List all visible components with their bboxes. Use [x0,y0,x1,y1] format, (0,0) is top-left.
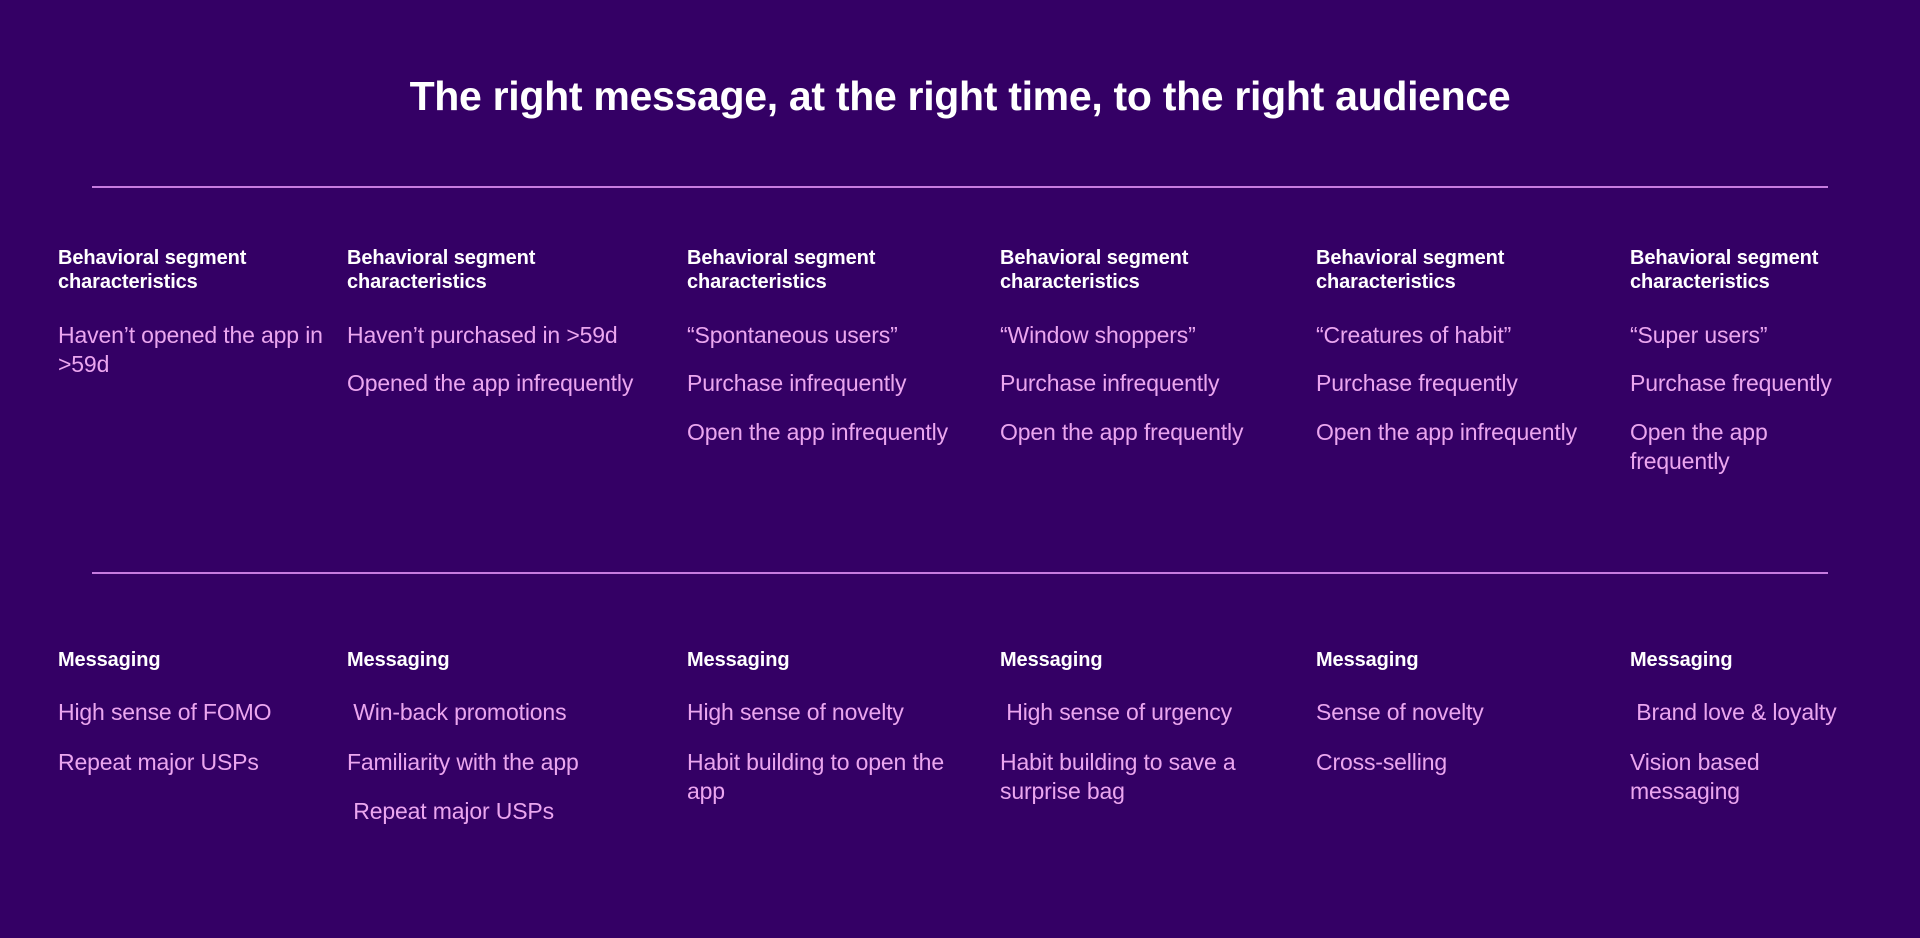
list-item: “Super users” [1630,321,1844,350]
messaging-column-4: Messaging High sense of urgency Habit bu… [1000,648,1316,847]
messaging-heading-6: Messaging [1630,648,1844,672]
messaging-heading-5: Messaging [1316,648,1606,672]
messaging-column-1: Messaging High sense of FOMO Repeat majo… [58,648,347,847]
list-item: “Window shoppers” [1000,321,1292,350]
list-item: Win-back promotions [347,698,663,727]
list-item: Purchase infrequently [1000,369,1292,398]
messaging-list-4: High sense of urgency Habit building to … [1000,698,1292,806]
messaging-heading-1: Messaging [58,648,323,672]
messaging-heading-4: Messaging [1000,648,1292,672]
list-item: Vision based messaging [1630,748,1844,807]
characteristics-list-2: Haven’t purchased in >59d Opened the app… [347,321,663,399]
list-item: Open the app infrequently [687,418,976,447]
messaging-list-3: High sense of novelty Habit building to … [687,698,976,806]
messaging-column-2: Messaging Win-back promotions Familiarit… [347,648,687,847]
characteristics-heading-1: Behavioral segment characteristics [58,246,323,295]
characteristics-column-1: Behavioral segment characteristics Haven… [58,246,347,477]
messaging-list-2: Win-back promotions Familiarity with the… [347,698,663,826]
characteristics-heading-3: Behavioral segment characteristics [687,246,976,295]
list-item: Open the app infrequently [1316,418,1606,447]
characteristics-heading-6: Behavioral segment characteristics [1630,246,1844,295]
list-item: Purchase frequently [1316,369,1606,398]
characteristics-heading-2: Behavioral segment characteristics [347,246,663,295]
list-item: Sense of novelty [1316,698,1606,727]
characteristics-list-5: “Creatures of habit” Purchase frequently… [1316,321,1606,447]
list-item: Familiarity with the app [347,748,663,777]
list-item: “Spontaneous users” [687,321,976,350]
list-item: Brand love & loyalty [1630,698,1844,727]
characteristics-column-2: Behavioral segment characteristics Haven… [347,246,687,477]
characteristics-list-4: “Window shoppers” Purchase infrequently … [1000,321,1292,447]
characteristics-heading-4: Behavioral segment characteristics [1000,246,1292,295]
messaging-column-6: Messaging Brand love & loyalty Vision ba… [1630,648,1868,847]
list-item: Haven’t opened the app in >59d [58,321,323,380]
list-item: “Creatures of habit” [1316,321,1606,350]
list-item: Habit building to save a surprise bag [1000,748,1292,807]
list-item: High sense of novelty [687,698,976,727]
characteristics-column-3: Behavioral segment characteristics “Spon… [687,246,1000,477]
list-item: Opened the app infrequently [347,369,663,398]
characteristics-list-6: “Super users” Purchase frequently Open t… [1630,321,1844,477]
characteristics-column-5: Behavioral segment characteristics “Crea… [1316,246,1630,477]
characteristics-list-3: “Spontaneous users” Purchase infrequentl… [687,321,976,447]
list-item: Haven’t purchased in >59d [347,321,663,350]
messaging-row: Messaging High sense of FOMO Repeat majo… [58,648,1868,847]
list-item: Purchase infrequently [687,369,976,398]
list-item: Open the app frequently [1000,418,1292,447]
messaging-heading-3: Messaging [687,648,976,672]
list-item: High sense of FOMO [58,698,323,727]
list-item: Open the app frequently [1630,418,1844,477]
list-item: Purchase frequently [1630,369,1844,398]
list-item: Cross-selling [1316,748,1606,777]
characteristics-heading-5: Behavioral segment characteristics [1316,246,1606,295]
characteristics-column-4: Behavioral segment characteristics “Wind… [1000,246,1316,477]
messaging-heading-2: Messaging [347,648,663,672]
messaging-list-5: Sense of novelty Cross-selling [1316,698,1606,777]
messaging-column-5: Messaging Sense of novelty Cross-selling [1316,648,1630,847]
characteristics-list-1: Haven’t opened the app in >59d [58,321,323,380]
page-title: The right message, at the right time, to… [0,72,1920,121]
characteristics-row: Behavioral segment characteristics Haven… [58,246,1868,477]
messaging-list-6: Brand love & loyalty Vision based messag… [1630,698,1844,806]
messaging-list-1: High sense of FOMO Repeat major USPs [58,698,323,777]
characteristics-column-6: Behavioral segment characteristics “Supe… [1630,246,1868,477]
divider-top [92,186,1828,188]
list-item: High sense of urgency [1000,698,1292,727]
messaging-column-3: Messaging High sense of novelty Habit bu… [687,648,1000,847]
list-item: Habit building to open the app [687,748,976,807]
list-item: Repeat major USPs [58,748,323,777]
divider-bottom [92,572,1828,574]
list-item: Repeat major USPs [347,797,663,826]
slide-canvas: The right message, at the right time, to… [0,0,1920,938]
